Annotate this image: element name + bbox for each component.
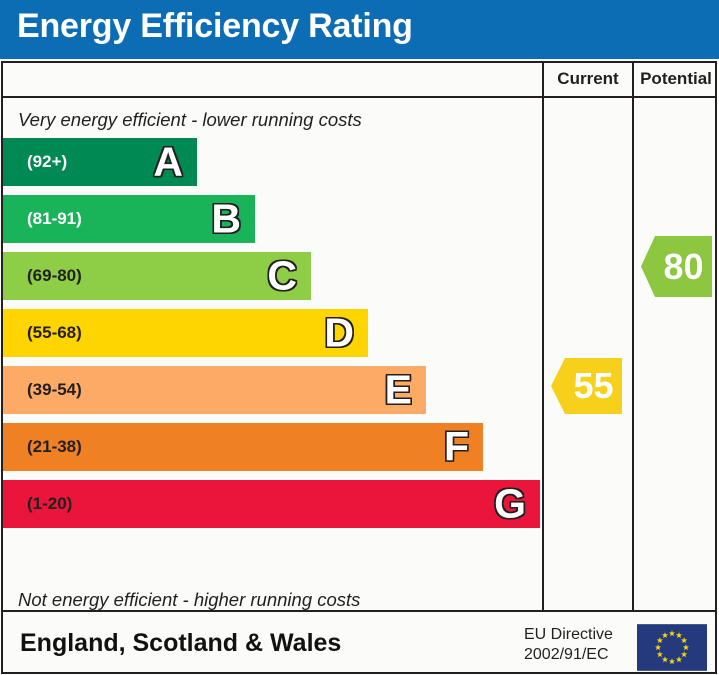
column-divider-potential: [632, 98, 634, 612]
footer-region-label: England, Scotland & Wales: [20, 629, 341, 658]
band-letter-c: C: [267, 256, 297, 297]
rating-band-b: (81-91)B: [3, 195, 255, 243]
band-range-c: (69-80): [27, 252, 82, 300]
column-divider-current: [542, 98, 544, 612]
rating-band-c: (69-80)C: [3, 252, 311, 300]
footer-directive-line1: EU Directive: [524, 625, 613, 645]
band-letter-e: E: [385, 370, 412, 411]
column-header-current: Current: [542, 61, 632, 96]
column-header-potential: Potential: [632, 61, 718, 96]
band-range-f: (21-38): [27, 423, 82, 471]
band-range-g: (1-20): [27, 480, 72, 528]
band-range-d: (55-68): [27, 309, 82, 357]
band-range-a: (92+): [27, 138, 67, 186]
caption-not-efficient: Not energy efficient - higher running co…: [18, 589, 360, 611]
rating-marker-value-potential: 80: [641, 249, 712, 285]
band-letter-f: F: [444, 427, 469, 468]
rating-band-g: (1-20)G: [3, 480, 540, 528]
rating-band-d: (55-68)D: [3, 309, 368, 357]
band-letter-d: D: [324, 313, 354, 354]
eu-flag-icon: [637, 624, 707, 671]
rating-marker-current: 55: [551, 358, 622, 414]
page-title: Energy Efficiency Rating: [17, 7, 413, 46]
rating-band-a: (92+)A: [3, 138, 197, 186]
column-header-row: Current Potential: [1, 61, 717, 98]
energy-efficiency-rating-chart: Energy Efficiency Rating Current Potenti…: [0, 0, 719, 675]
band-letter-g: G: [494, 484, 526, 525]
rating-band-f: (21-38)F: [3, 423, 483, 471]
band-range-e: (39-54): [27, 366, 82, 414]
rating-marker-value-current: 55: [551, 368, 622, 404]
footer-eu-directive: EU Directive 2002/91/EC: [524, 625, 613, 665]
band-letter-a: A: [153, 142, 183, 183]
band-range-b: (81-91): [27, 195, 82, 243]
caption-very-efficient: Very energy efficient - lower running co…: [18, 109, 362, 131]
footer-directive-line2: 2002/91/EC: [524, 645, 613, 665]
rating-marker-potential: 80: [641, 236, 712, 297]
band-letter-b: B: [211, 199, 241, 240]
chart-footer: England, Scotland & Wales EU Directive 2…: [1, 612, 717, 674]
chart-title-bar: Energy Efficiency Rating: [0, 0, 719, 59]
rating-band-e: (39-54)E: [3, 366, 426, 414]
